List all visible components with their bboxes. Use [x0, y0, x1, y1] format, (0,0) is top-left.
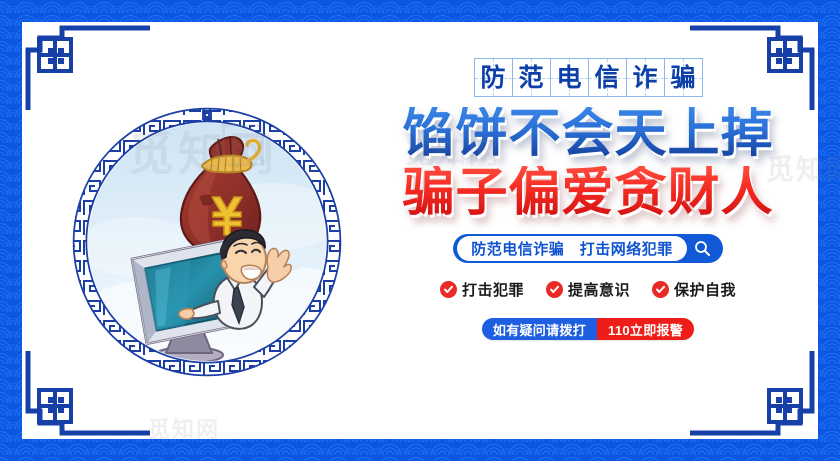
illustration-medallion — [62, 97, 352, 387]
check-item: 保护自我 — [652, 279, 736, 300]
slogan-search-pill[interactable]: 防范电信诈骗 打击网络犯罪 — [453, 234, 723, 263]
hotline-pill[interactable]: 如有疑问请拨打 110立即报警 — [482, 318, 694, 340]
headline-line-1: 馅饼不会天上掉 — [378, 107, 798, 162]
grid-title-char: 信 — [594, 65, 619, 90]
grid-title-cell: 信 — [589, 59, 627, 97]
grid-title-cell: 范 — [513, 59, 551, 97]
check-item-label: 保护自我 — [674, 279, 736, 300]
check-circle-icon — [440, 281, 457, 298]
check-item: 提高意识 — [546, 279, 630, 300]
grid-title-cell: 诈 — [627, 59, 665, 97]
slogan-text: 防范电信诈骗 打击网络犯罪 — [457, 236, 687, 261]
grid-title-char: 范 — [518, 65, 543, 90]
grid-title-char: 骗 — [670, 65, 695, 90]
grid-title-cell: 骗 — [665, 59, 703, 97]
check-item-label: 提高意识 — [568, 279, 630, 300]
check-item: 打击犯罪 — [440, 279, 524, 300]
check-circle-icon — [546, 281, 563, 298]
grid-title: 防 范 电 信 诈 骗 — [474, 58, 703, 97]
grid-title-char: 防 — [480, 65, 505, 90]
grid-title-cell: 电 — [551, 59, 589, 97]
check-item-label: 打击犯罪 — [462, 279, 524, 300]
hotline-prefix: 如有疑问请拨打 — [482, 318, 597, 340]
check-list: 打击犯罪 提高意识 保护自我 — [378, 279, 798, 300]
grid-title-char: 电 — [556, 65, 581, 90]
hotline-number: 110立即报警 — [597, 318, 694, 340]
check-circle-icon — [652, 281, 669, 298]
content-column: 防 范 电 信 诈 骗 馅饼不会天上掉 骗子偏爱贪财人 防范电信诈骗 打击网络犯… — [378, 46, 798, 406]
poster-root: 防 范 电 信 诈 骗 馅饼不会天上掉 骗子偏爱贪财人 防范电信诈骗 打击网络犯… — [0, 0, 840, 461]
grid-title-cell: 防 — [475, 59, 513, 97]
grid-title-char: 诈 — [632, 65, 657, 90]
search-icon[interactable] — [694, 240, 711, 257]
headline-line-2: 骗子偏爱贪财人 — [378, 166, 798, 221]
